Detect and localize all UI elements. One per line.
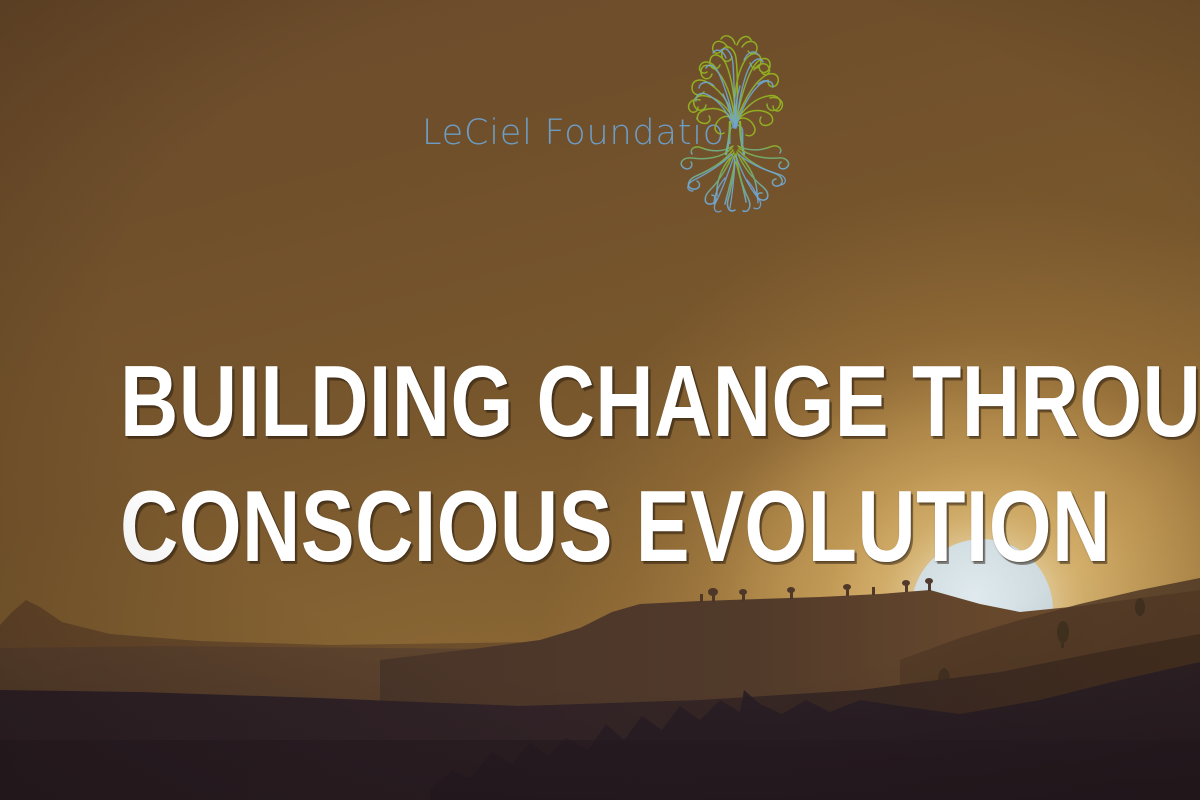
logo[interactable]: LeCiel Foundation [410,28,800,213]
page-title: Building Change Through Conscious Evolut… [120,340,1080,590]
hero-banner: LeCiel Foundation [0,0,1200,800]
page-title-line-1: Building Change Through [120,340,1080,465]
tree-of-life-icon [670,28,800,213]
page-title-line-2: Conscious Evolution [120,465,1080,590]
